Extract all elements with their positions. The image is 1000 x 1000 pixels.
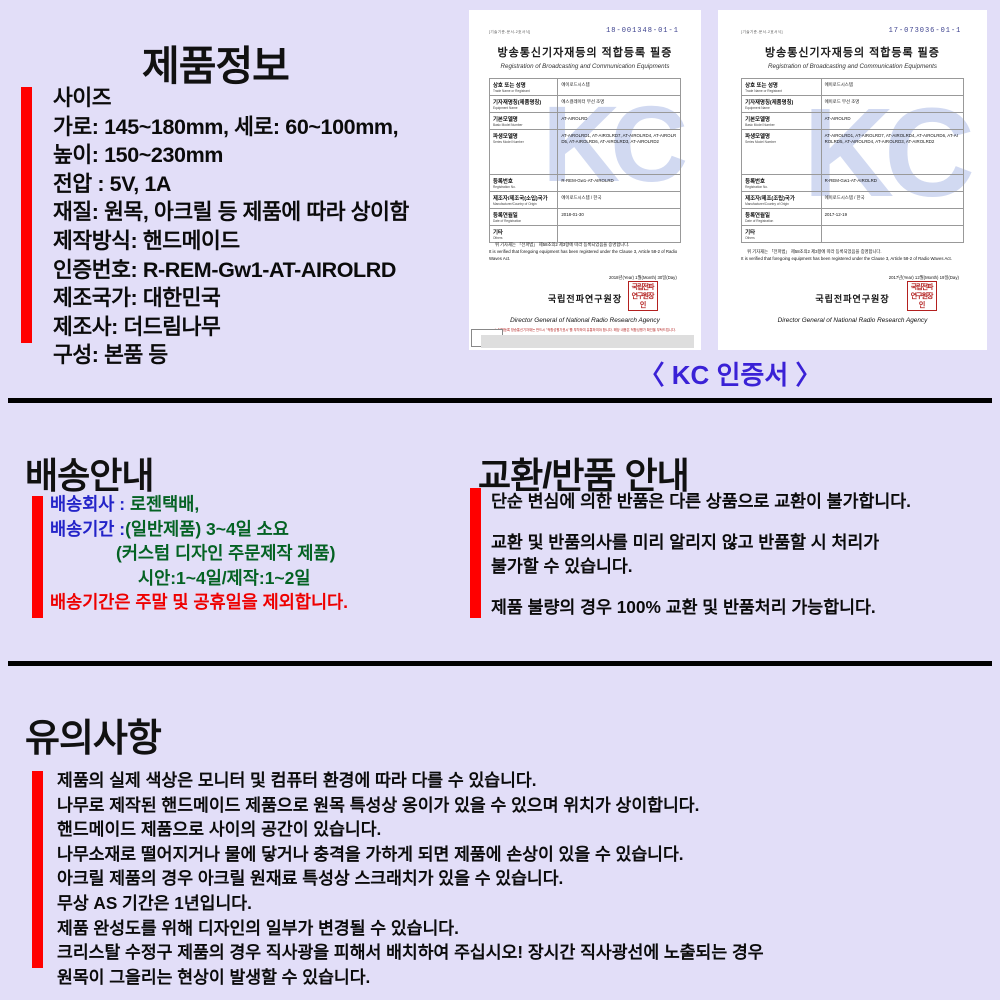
- row-label-en: Registration No.: [493, 185, 554, 189]
- row-label-ko: 파생모델명: [745, 132, 817, 140]
- exchange-accent-bar: [470, 488, 481, 618]
- notice-line: 무상 AS 기간은 1년입니다.: [57, 891, 764, 916]
- row-label: 상호 또는 성명 Trade Name or Registrant: [742, 79, 821, 95]
- row-label-en: Registration No.: [745, 185, 817, 189]
- certificate-date: 2018년(Year) 1월(Month) 30일(Day): [609, 275, 677, 281]
- row-label: 등록번호 Registration No.: [490, 175, 558, 191]
- notice-line: 크리스탈 수정구 제품의 경우 직사광을 피해서 배치하여 주십시오! 장시간 …: [57, 940, 764, 965]
- table-row: 기자재명칭(제품명칭) Equipment Name 에이로드 무선 조명: [742, 96, 963, 113]
- section-divider-top: [8, 398, 992, 403]
- table-row: 제조자/제조(조립)국가 Manufacturer/Country of Ori…: [742, 192, 963, 209]
- table-row: 기타 Others: [490, 226, 680, 243]
- row-label-en: Equipment Name: [745, 106, 817, 110]
- row-label-en: Others: [745, 236, 817, 240]
- certificate-note-ko: 위 기자재는 「전파법」 제58조의2 제3항에 따라 등록되었음을 증명합니다…: [741, 249, 964, 256]
- row-label: 기본모델명 Basic Model Number: [742, 113, 821, 129]
- product-info-list: 사이즈 가로: 145~180mm, 세로: 60~100mm, 높이: 150…: [53, 84, 409, 370]
- certificate-table: 상호 또는 성명 Trade Name or Registrant 에이로드시스…: [741, 78, 964, 243]
- row-value: AT-AIROLRD: [822, 113, 963, 129]
- table-row: 파생모델명 Series Model Number AT-AIROLRD1, A…: [742, 130, 963, 175]
- exchange-line: 제품 불량의 경우 100% 교환 및 반품처리 가능합니다.: [491, 595, 911, 619]
- shipping-value: (일반제품) 3~4일 소요: [125, 519, 289, 539]
- exchange-paragraph: 제품 불량의 경우 100% 교환 및 반품처리 가능합니다.: [491, 595, 911, 619]
- certificate-form-code: [기술기준-문서-2호서식]: [741, 30, 783, 35]
- row-value: AT-AIROLRD1, AT-AIROLRD7, AT-AIROLRD4, A…: [822, 130, 963, 174]
- kc-certificate-image-1: KC [기술기준-문서-2호서식] 18-001348-01-1 방송통신기자재…: [469, 10, 701, 350]
- certificate-title: 방송통신기자재등의 적합등록 필증: [729, 44, 976, 60]
- table-row: 기타 Others: [742, 226, 963, 243]
- row-label-en: Date of Registration: [745, 219, 817, 223]
- shipping-label: 배송회사 :: [50, 494, 130, 514]
- section-divider-bottom: [8, 661, 992, 666]
- shipping-warning: 배송기간은 주말 및 공휴일을 제외합니다.: [50, 592, 348, 612]
- shipping-value: (커스텀 디자인 주문제작 제품): [116, 543, 335, 563]
- shipping-accent-bar: [32, 496, 43, 618]
- row-label-ko: 등록연월일: [493, 211, 554, 219]
- shipping-label: 배송기간 :: [50, 519, 125, 539]
- certificate-number: 18-001348-01-1: [606, 27, 679, 35]
- row-label-en: Others: [493, 236, 554, 240]
- table-row: 상호 또는 성명 Trade Name or Registrant 에이로드시스…: [742, 79, 963, 96]
- product-info-line: 가로: 145~180mm, 세로: 60~100mm,: [53, 113, 409, 142]
- row-value: R-REM-Gw1-AT-AIROLRD: [822, 175, 963, 191]
- certificate-footnote: ※ 적합등록 방송통신기자재는 반드시 "적합성평가표시"를 부착하여 유통하여…: [491, 328, 679, 333]
- exchange-line: 불가할 수 있습니다.: [491, 554, 911, 578]
- table-row: 제조자/제조국(소입)국가 Manufacturer/Country of Or…: [490, 192, 680, 209]
- row-label-en: Date of Registration: [493, 219, 554, 223]
- row-label-ko: 파생모델명: [493, 132, 554, 140]
- shipping-line: 배송회사 : 로젠택배,: [50, 492, 348, 517]
- notice-line: 제품 완성도를 위해 디자인의 일부가 변경될 수 있습니다.: [57, 916, 764, 941]
- row-value: AT-AIROLRD1, AT-AIROLRD7, AT-AIROLRD4, A…: [558, 130, 680, 174]
- row-label-en: Trade Name or Registrant: [493, 89, 554, 93]
- notice-line: 제품의 실제 색상은 모니터 및 컴퓨터 환경에 따라 다를 수 있습니다.: [57, 768, 764, 793]
- row-value: 에이로드시스템 / 한국: [822, 192, 963, 208]
- notice-line: 아크릴 제품의 경우 아크릴 원재료 특성상 스크래치가 있을 수 있습니다.: [57, 866, 764, 891]
- row-value: 에이로드시스템: [822, 79, 963, 95]
- row-label-ko: 제조자/제조국(소입)국가: [493, 194, 554, 202]
- table-row: 등록연월일 Date of Registration 2018-01-30: [490, 209, 680, 226]
- row-label: 기본모델명 Basic Model Number: [490, 113, 558, 129]
- exchange-return-list: 단순 변심에 의한 반품은 다른 상품으로 교환이 불가합니다. 교환 및 반품…: [491, 489, 911, 619]
- certificate-agency-ko: 국립전파연구원장: [478, 292, 691, 305]
- certificate-note-en: It is verified that foregoing equipment …: [741, 256, 952, 261]
- certificate-bottom-strip: [481, 335, 694, 348]
- notice-accent-bar: [32, 771, 43, 968]
- certificate-note-en: It is verified that foregoing equipment …: [489, 249, 677, 261]
- certificate-note-ko: 위 기자재는 「전파법」 제58조의2 제3항에 따라 등록되었음을 증명합니다…: [489, 242, 681, 249]
- row-label-ko: 기본모델명: [493, 115, 554, 123]
- notice-line: 원목이 그을리는 현상이 발생할 수 있습니다.: [57, 965, 764, 990]
- certificate-agency-ko: 국립전파연구원장: [729, 292, 976, 305]
- row-label: 등록연월일 Date of Registration: [742, 209, 821, 225]
- table-row: 등록번호 Registration No. R-REM-Gw1-AT-AIROL…: [490, 175, 680, 192]
- row-label-en: Basic Model Number: [493, 123, 554, 127]
- row-label-en: Series Model Number: [493, 140, 554, 144]
- row-label-ko: 제조자/제조(조립)국가: [745, 194, 817, 202]
- row-label-ko: 등록연월일: [745, 211, 817, 219]
- certificate-agency-en: Director General of National Radio Resea…: [478, 317, 691, 324]
- certificate-subtitle: Registration of Broadcasting and Communi…: [478, 63, 691, 70]
- product-info-line: 제작방식: 핸드메이드: [53, 227, 409, 256]
- row-label-en: Manufacturer/Country of Origin: [745, 202, 817, 206]
- row-label-ko: 등록번호: [745, 177, 817, 185]
- row-value: 2018-01-30: [558, 209, 680, 225]
- certificate-number: 17-073036-01-1: [889, 27, 962, 35]
- certificate-note: 위 기자재는 「전파법」 제58조의2 제3항에 따라 등록되었음을 증명합니다…: [741, 249, 964, 263]
- shipping-heading: 배송안내: [25, 455, 153, 497]
- row-value: AT-AIROLRD: [558, 113, 680, 129]
- notice-line: 핸드메이드 제품으로 사이의 공간이 있습니다.: [57, 817, 764, 842]
- shipping-list: 배송회사 : 로젠택배, 배송기간 :(일반제품) 3~4일 소요 (커스텀 디…: [50, 492, 348, 615]
- exchange-paragraph: 단순 변심에 의한 반품은 다른 상품으로 교환이 불가합니다.: [491, 489, 911, 513]
- shipping-value: 시안:1~4일/제작:1~2일: [138, 568, 311, 588]
- row-label: 기자재명칭(제품명칭) Equipment Name: [742, 96, 821, 112]
- row-label-en: Series Model Number: [745, 140, 817, 144]
- row-value: 에이로드시스템: [558, 79, 680, 95]
- row-label-ko: 등록번호: [493, 177, 554, 185]
- product-info-line: 재질: 원목, 아크릴 등 제품에 따라 상이함: [53, 198, 409, 227]
- product-info-line: 높이: 150~230mm: [53, 141, 409, 170]
- notice-line: 나무로 제작된 핸드메이드 제품으로 원목 특성상 옹이가 있을 수 있으며 위…: [57, 793, 764, 818]
- product-info-line: 사이즈: [53, 84, 409, 113]
- row-label-en: Manufacturer/Country of Origin: [493, 202, 554, 206]
- row-label: 상호 또는 성명 Trade Name or Registrant: [490, 79, 558, 95]
- row-label-en: Trade Name or Registrant: [745, 89, 817, 93]
- shipping-line: 배송기간 :(일반제품) 3~4일 소요: [50, 517, 348, 542]
- row-value: 에이로드 무선 조명: [822, 96, 963, 112]
- row-value: [822, 226, 963, 242]
- table-row: 파생모델명 Series Model Number AT-AIROLRD1, A…: [490, 130, 680, 175]
- row-label: 등록연월일 Date of Registration: [490, 209, 558, 225]
- notice-list: 제품의 실제 색상은 모니터 및 컴퓨터 환경에 따라 다를 수 있습니다. 나…: [57, 768, 764, 989]
- row-label-ko: 상호 또는 성명: [745, 81, 817, 89]
- table-row: 기본모델명 Basic Model Number AT-AIROLRD: [742, 113, 963, 130]
- notice-line: 나무소재로 떨어지거나 물에 닿거나 충격을 가하게 되면 제품에 손상이 있을…: [57, 842, 764, 867]
- certificate-subtitle: Registration of Broadcasting and Communi…: [729, 63, 976, 70]
- row-label-en: Equipment Name: [493, 106, 554, 110]
- row-label: 파생모델명 Series Model Number: [490, 130, 558, 174]
- row-label: 파생모델명 Series Model Number: [742, 130, 821, 174]
- row-label-ko: 기자재명칭(제품명칭): [745, 98, 817, 106]
- kc-certificate-image-2: KC [기술기준-문서-2호서식] 17-073036-01-1 방송통신기자재…: [718, 10, 987, 350]
- certificate-date: 2017년(Year) 12월(Month) 19일(Day): [889, 275, 959, 281]
- certificate-table: 상호 또는 성명 Trade Name or Registrant 에이로드시스…: [489, 78, 681, 243]
- row-label-ko: 상호 또는 성명: [493, 81, 554, 89]
- product-info-line: 인증번호: R-REM-Gw1-AT-AIROLRD: [53, 256, 409, 285]
- certificate-paper: KC [기술기준-문서-2호서식] 18-001348-01-1 방송통신기자재…: [478, 20, 691, 340]
- exchange-line: 교환 및 반품의사를 미리 알리지 않고 반품할 시 처리가: [491, 530, 911, 554]
- row-value: 2017-12-19: [822, 209, 963, 225]
- product-info-line: 제조사: 더드림나무: [53, 313, 409, 342]
- table-row: 기본모델명 Basic Model Number AT-AIROLRD: [490, 113, 680, 130]
- row-label-ko: 기본모델명: [745, 115, 817, 123]
- shipping-line: 시안:1~4일/제작:1~2일: [50, 566, 348, 591]
- shipping-line: 배송기간은 주말 및 공휴일을 제외합니다.: [50, 590, 348, 615]
- row-label: 등록번호 Registration No.: [742, 175, 821, 191]
- product-info-line: 제조국가: 대한민국: [53, 284, 409, 313]
- notice-heading: 유의사항: [25, 717, 161, 761]
- exchange-line: 단순 변심에 의한 반품은 다른 상품으로 교환이 불가합니다.: [491, 489, 911, 513]
- shipping-line: (커스텀 디자인 주문제작 제품): [50, 541, 348, 566]
- product-info-line: 구성: 본품 등: [53, 341, 409, 370]
- row-value: 에이로드시스템 / 한국: [558, 192, 680, 208]
- row-label-ko: 기타: [493, 228, 554, 236]
- table-row: 등록번호 Registration No. R-REM-Gw1-AT-AIROL…: [742, 175, 963, 192]
- row-value: [558, 226, 680, 242]
- table-row: 등록연월일 Date of Registration 2017-12-19: [742, 209, 963, 226]
- row-label-ko: 기자재명칭(제품명칭): [493, 98, 554, 106]
- product-info-heading: 제품정보: [142, 43, 289, 89]
- product-info-line: 전압 : 5V, 1A: [53, 170, 409, 199]
- certificate-agency-en: Director General of National Radio Resea…: [729, 317, 976, 324]
- row-label-en: Basic Model Number: [745, 123, 817, 127]
- product-info-accent-bar: [21, 87, 32, 343]
- certificate-title: 방송통신기자재등의 적합등록 필증: [478, 44, 691, 60]
- row-label: 기타 Others: [742, 226, 821, 242]
- row-label: 기자재명칭(제품명칭) Equipment Name: [490, 96, 558, 112]
- kc-certificate-caption: 〈 KC 인증서 〉: [560, 355, 900, 392]
- certificate-paper: KC [기술기준-문서-2호서식] 17-073036-01-1 방송통신기자재…: [729, 20, 976, 340]
- row-label-ko: 기타: [745, 228, 817, 236]
- table-row: 기자재명칭(제품명칭) Equipment Name 에스컬레이터 무선 조명: [490, 96, 680, 113]
- table-row: 상호 또는 성명 Trade Name or Registrant 에이로드시스…: [490, 79, 680, 96]
- row-label: 제조자/제조국(소입)국가 Manufacturer/Country of Or…: [490, 192, 558, 208]
- row-value: R-REM-Gw1-AT-AIROLRD: [558, 175, 680, 191]
- certificate-form-code: [기술기준-문서-2호서식]: [489, 30, 531, 35]
- row-value: 에스컬레이터 무선 조명: [558, 96, 680, 112]
- row-label: 기타 Others: [490, 226, 558, 242]
- certificate-note: 위 기자재는 「전파법」 제58조의2 제3항에 따라 등록되었음을 증명합니다…: [489, 242, 681, 263]
- row-label: 제조자/제조(조립)국가 Manufacturer/Country of Ori…: [742, 192, 821, 208]
- exchange-paragraph: 교환 및 반품의사를 미리 알리지 않고 반품할 시 처리가 불가할 수 있습니…: [491, 530, 911, 578]
- shipping-value: 로젠택배,: [130, 494, 199, 514]
